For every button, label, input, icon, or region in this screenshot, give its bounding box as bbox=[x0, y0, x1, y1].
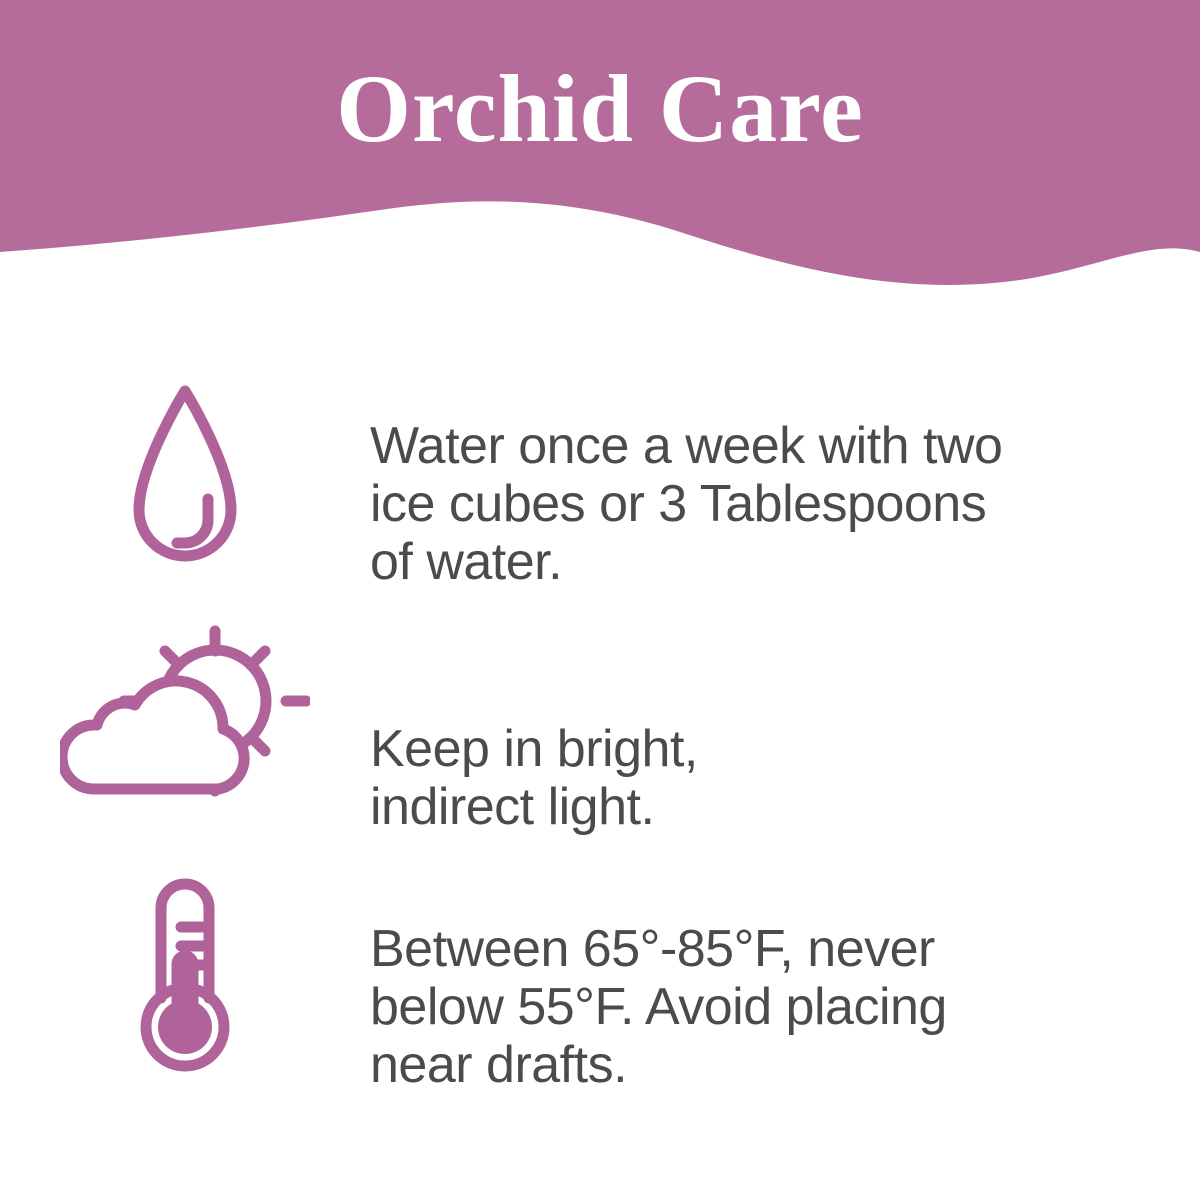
orchid-care-infographic: Orchid Care Water once a week with two i… bbox=[0, 0, 1200, 1200]
care-row-light: Keep in bright, indirect light. bbox=[0, 605, 1200, 860]
care-text-light-line-2: indirect light. bbox=[370, 778, 654, 836]
cloud-shape-icon bbox=[62, 681, 244, 789]
care-text-water-line-3: of water. bbox=[370, 533, 562, 591]
page-title: Orchid Care bbox=[0, 58, 1200, 160]
care-text-temperature: Between 65°-85°F, never below 55°F. Avoi… bbox=[370, 920, 1110, 1094]
care-text-light: Keep in bright, indirect light. bbox=[370, 720, 1110, 836]
water-icon-cell bbox=[0, 355, 370, 587]
care-text-water: Water once a week with two ice cubes or … bbox=[370, 417, 1110, 591]
water-drop-icon bbox=[125, 377, 245, 587]
water-text-cell: Water once a week with two ice cubes or … bbox=[370, 355, 1200, 591]
care-tips-list: Water once a week with two ice cubes or … bbox=[0, 355, 1200, 1110]
sun-cloud-icon bbox=[60, 617, 310, 807]
temperature-icon-cell bbox=[0, 860, 370, 1078]
thermometer-icon bbox=[125, 868, 245, 1078]
care-text-water-line-2: ice cubes or 3 Tablespoons bbox=[370, 475, 986, 533]
care-text-temperature-line-2: below 55°F. Avoid placing bbox=[370, 978, 947, 1036]
temperature-text-cell: Between 65°-85°F, never below 55°F. Avoi… bbox=[370, 860, 1200, 1094]
light-text-cell: Keep in bright, indirect light. bbox=[370, 605, 1200, 836]
care-text-water-line-1: Water once a week with two bbox=[370, 417, 1002, 475]
care-text-temperature-line-1: Between 65°-85°F, never bbox=[370, 920, 935, 978]
care-row-temperature: Between 65°-85°F, never below 55°F. Avoi… bbox=[0, 860, 1200, 1110]
light-icon-cell bbox=[0, 605, 370, 807]
care-text-light-line-1: Keep in bright, bbox=[370, 720, 698, 778]
care-text-temperature-line-3: near drafts. bbox=[370, 1036, 627, 1094]
care-row-water: Water once a week with two ice cubes or … bbox=[0, 355, 1200, 605]
